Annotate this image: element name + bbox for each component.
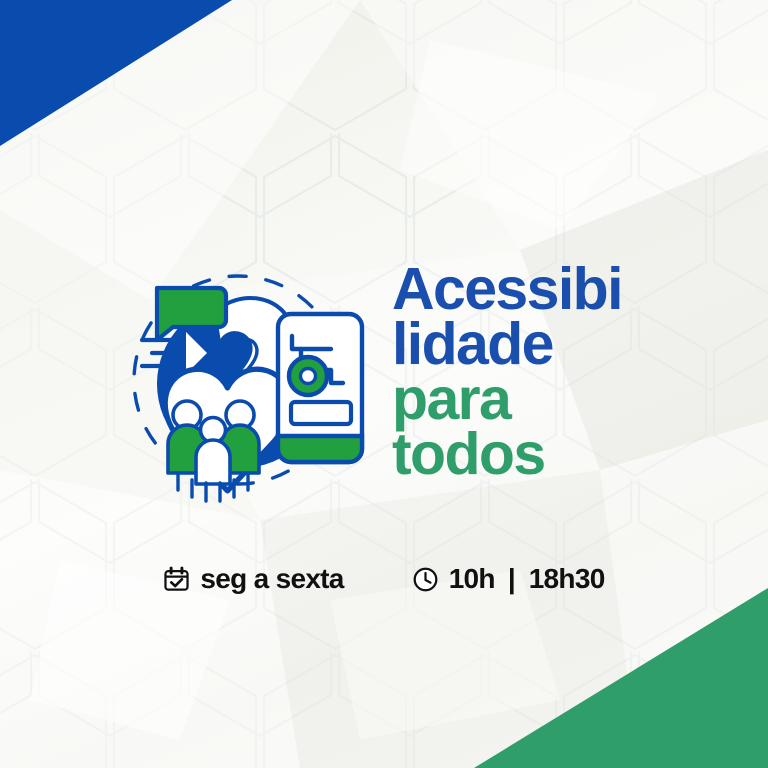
calendar-check-icon [163,566,190,593]
hours-info: 10h | 18h30 [412,563,605,595]
smartphone-wheelchair-icon [278,314,362,462]
accessibility-poster: Acessibi lidade para todos seg a sexta [0,0,768,768]
poster-content: Acessibi lidade para todos seg a sexta [0,0,768,768]
heart-family-icon [165,369,290,501]
headline: Acessibi lidade para todos [392,262,722,483]
days-label: seg a sexta [200,563,343,595]
headline-line-4: todos [392,427,722,482]
headline-line-2: lidade [392,317,722,372]
accessibility-for-all-logo [118,252,368,510]
opening-time: 10h [449,563,495,595]
time-separator: | [505,563,519,595]
closing-time: 18h30 [529,563,605,595]
days-info: seg a sexta [163,563,343,595]
clock-icon [412,566,439,593]
info-bar: seg a sexta 10h | 18h30 [0,563,768,595]
headline-line-3: para [392,372,722,427]
headline-line-1: Acessibi [392,262,722,317]
